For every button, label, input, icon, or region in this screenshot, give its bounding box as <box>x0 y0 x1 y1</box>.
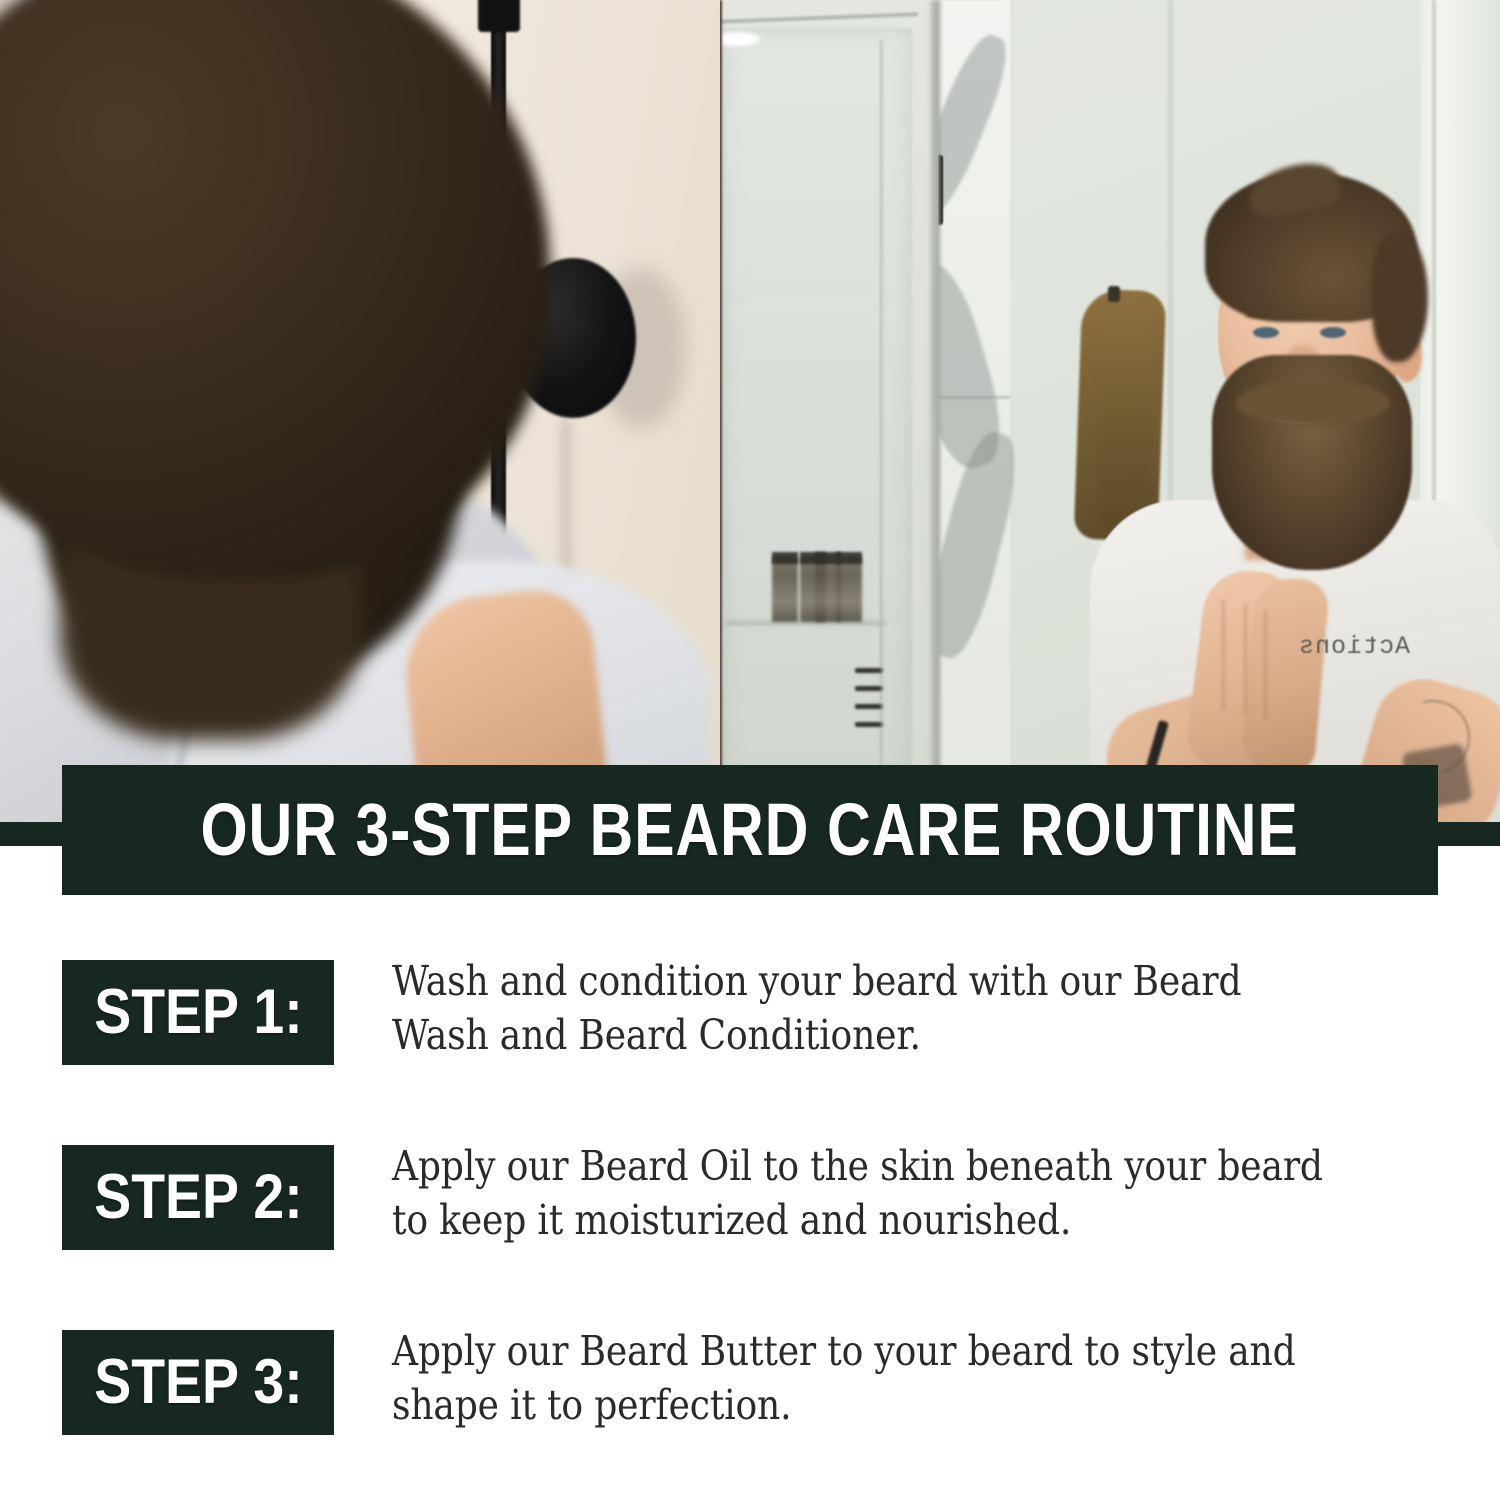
reflection-eye-right <box>1320 327 1346 338</box>
title-banner: OUR 3-STEP BEARD CARE ROUTINE <box>62 765 1438 895</box>
shower-glass-edge <box>880 40 885 824</box>
shower-bottle <box>836 556 862 622</box>
step-badge-label: STEP 2: <box>94 1166 303 1229</box>
step-description-3: Apply our Beard Butter to your beard to … <box>392 1324 1325 1432</box>
towel-hook-icon <box>1108 286 1120 302</box>
mirror-frame-right <box>930 0 940 824</box>
reflection-eye-left <box>1253 327 1279 338</box>
step-row: STEP 1: Wash and condition your beard wi… <box>0 930 1500 1115</box>
step-description-1: Wash and condition your beard with our B… <box>392 954 1325 1062</box>
step-badge-2: STEP 2: <box>62 1145 334 1250</box>
steps-list: STEP 1: Wash and condition your beard wi… <box>0 930 1500 1485</box>
towel-fold <box>1098 300 1152 530</box>
step-row: STEP 3: Apply our Beard Butter to your b… <box>0 1300 1500 1485</box>
step-row: STEP 2: Apply our Beard Oil to the skin … <box>0 1115 1500 1300</box>
step-badge-1: STEP 1: <box>62 960 334 1065</box>
step-badge-label: STEP 1: <box>94 981 303 1044</box>
shower-bottle <box>772 556 798 622</box>
reflection-finger-3 <box>1264 610 1267 720</box>
step-badge-3: STEP 3: <box>62 1330 334 1435</box>
step-description-2: Apply our Beard Oil to the skin beneath … <box>392 1139 1325 1247</box>
shower-soap-rack <box>855 668 883 728</box>
foreground-hair <box>0 0 550 580</box>
shower-bottle-cap <box>772 552 798 564</box>
reflection-hair-side <box>1372 232 1428 362</box>
hero-photo: Actions <box>0 0 1500 824</box>
reflection-finger-2 <box>1244 604 1247 714</box>
promo-graphic: Actions <box>0 0 1500 1500</box>
shower-bottle-cap <box>836 552 862 564</box>
tshirt-logo-text: Actions <box>1298 632 1410 661</box>
step-badge-label: STEP 3: <box>94 1351 303 1414</box>
sconce-cap <box>478 0 520 32</box>
reflection-mustache <box>1236 380 1390 426</box>
page-title: OUR 3-STEP BEARD CARE ROUTINE <box>201 793 1299 867</box>
reflection-finger-1 <box>1222 600 1225 710</box>
